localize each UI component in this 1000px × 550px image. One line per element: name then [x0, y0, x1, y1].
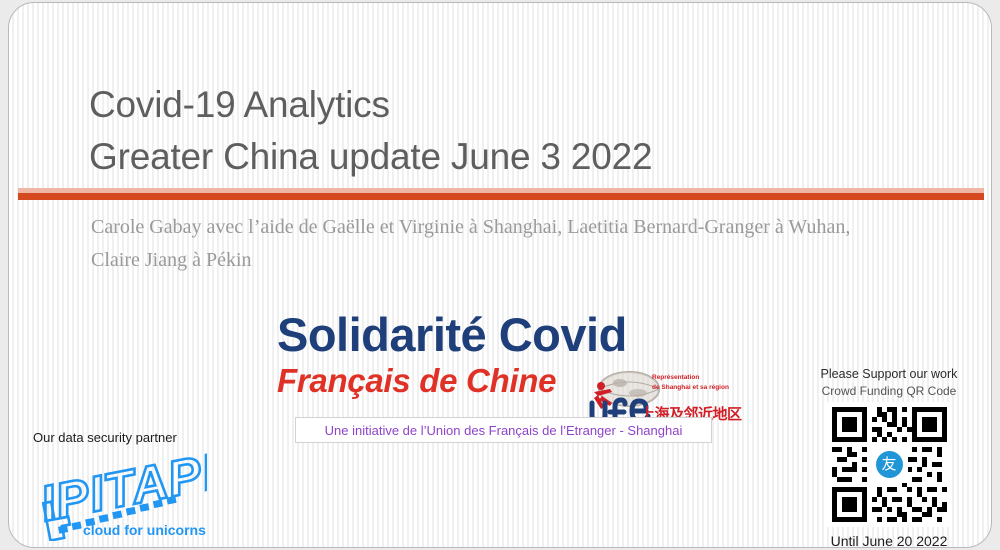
- title-line-1: Covid-19 Analytics: [89, 79, 889, 131]
- support-block: Please Support our work Crowd Funding QR…: [809, 366, 969, 548]
- qr-center-glyph: 友: [876, 451, 903, 478]
- ufe-rep-line-1: Représentation: [652, 373, 729, 383]
- ufe-representation-text: Représentation de Shanghai et sa région: [652, 373, 729, 392]
- support-deadline: Until June 20 2022: [809, 531, 969, 548]
- divider-rule: [18, 193, 984, 200]
- svg-text:IPITAPP: IPITAPP: [36, 449, 207, 532]
- presentation-slide: Covid-19 Analytics Greater China update …: [8, 2, 992, 548]
- initiative-banner-text: Une initiative de l’Union des Français d…: [325, 423, 683, 438]
- title-line-2: Greater China update June 3 2022: [89, 131, 889, 183]
- partner-block: Our data security partner IPITAPP: [27, 429, 227, 541]
- crowdfunding-qr-code[interactable]: 友: [827, 402, 952, 527]
- support-subtitle: Crowd Funding QR Code: [809, 383, 969, 400]
- qr-center-logo: 友: [871, 446, 908, 483]
- solidarite-covid-title: Solidarité Covid: [277, 309, 627, 361]
- page-title: Covid-19 Analytics Greater China update …: [89, 79, 889, 183]
- partner-label: Our data security partner: [27, 429, 227, 447]
- ufe-rep-line-2: de Shanghai et sa région: [652, 383, 729, 393]
- initiative-banner: Une initiative de l’Union des Français d…: [295, 417, 712, 443]
- support-title: Please Support our work: [809, 366, 969, 383]
- ipitapp-tagline: cloud for unicorns: [83, 522, 206, 538]
- ipitapp-logo: IPITAPP cloud for unicorns: [27, 449, 207, 541]
- authors-subtitle: Carole Gabay avec l’aide de Gaëlle et Vi…: [91, 211, 891, 277]
